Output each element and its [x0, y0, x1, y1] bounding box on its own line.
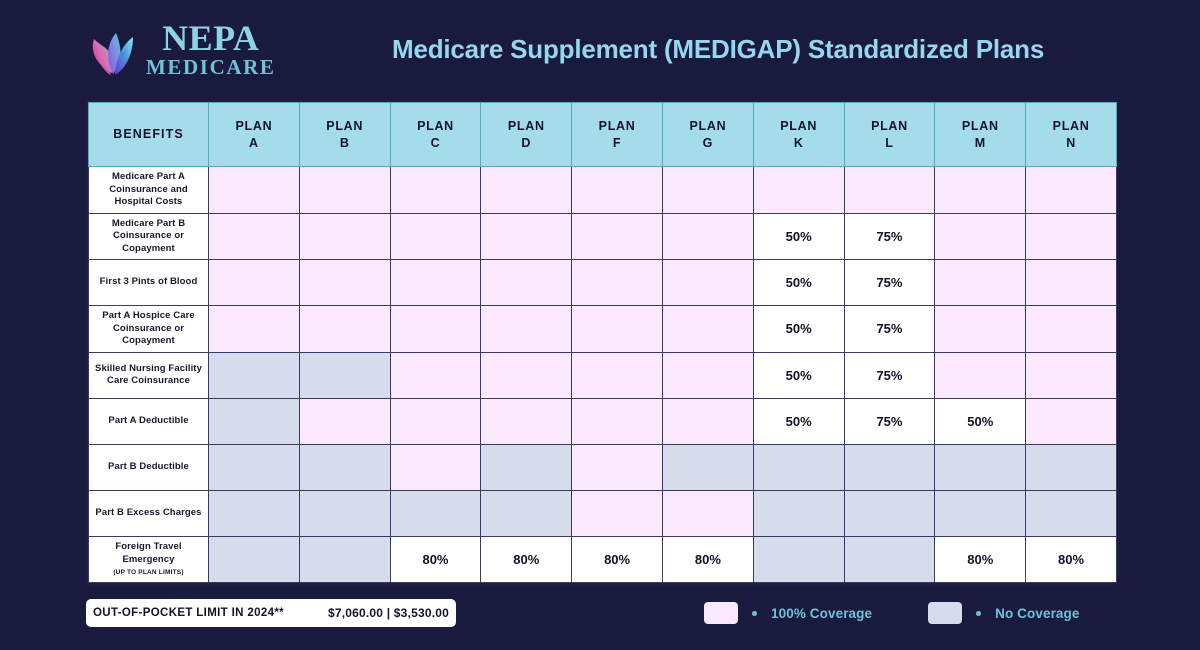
brand-name-top: NEPA	[162, 20, 259, 56]
benefit-name-text: Part A Hospice Care Coinsurance or Copay…	[102, 310, 195, 346]
coverage-cell-plan-k: 50%	[753, 398, 844, 444]
plan-word-label: PLAN	[935, 118, 1025, 135]
coverage-cell-plan-k: 50%	[753, 352, 844, 398]
coverage-cell-plan-n	[1026, 306, 1117, 353]
coverage-cell-plan-c	[390, 398, 481, 444]
benefit-name-cell: Part B Excess Charges	[89, 490, 209, 536]
coverage-cell-plan-k: 50%	[753, 306, 844, 353]
coverage-cell-plan-m	[935, 167, 1026, 214]
legend-swatch-no-coverage	[928, 602, 962, 624]
coverage-cell-plan-d	[481, 167, 572, 214]
coverage-cell-plan-d	[481, 490, 572, 536]
coverage-cell-plan-f: 80%	[572, 536, 663, 582]
benefit-name-text: Medicare Part B Coinsurance or Copayment	[112, 218, 185, 254]
coverage-cell-plan-g	[662, 444, 753, 490]
coverage-cell-plan-m: 80%	[935, 536, 1026, 582]
coverage-cell-plan-n	[1026, 352, 1117, 398]
legend-bullet-dot-icon	[976, 611, 981, 616]
coverage-cell-plan-b	[299, 260, 390, 306]
coverage-cell-plan-l: 75%	[844, 398, 935, 444]
brand-wordmark: NEPA MEDICARE	[146, 20, 275, 78]
coverage-cell-plan-c	[390, 352, 481, 398]
plan-letter-label: C	[391, 135, 481, 152]
coverage-cell-plan-c	[390, 306, 481, 353]
plan-word-label: PLAN	[754, 118, 844, 135]
coverage-cell-plan-a	[209, 444, 300, 490]
benefit-name-cell: Part B Deductible	[89, 444, 209, 490]
coverage-cell-plan-b	[299, 398, 390, 444]
coverage-cell-plan-n	[1026, 260, 1117, 306]
legend-item-full-coverage: 100% Coverage	[704, 602, 872, 624]
coverage-cell-plan-k	[753, 167, 844, 214]
benefit-name-text: Part B Excess Charges	[95, 507, 201, 518]
table-row: Part B Excess Charges	[89, 490, 1117, 536]
coverage-cell-plan-c	[390, 213, 481, 260]
coverage-cell-plan-k	[753, 444, 844, 490]
legend-swatch-full-coverage	[704, 602, 738, 624]
benefit-name-cell: Medicare Part B Coinsurance or Copayment	[89, 213, 209, 260]
coverage-cell-plan-c	[390, 490, 481, 536]
coverage-cell-plan-a	[209, 167, 300, 214]
table-row: Medicare Part A Coinsurance and Hospital…	[89, 167, 1117, 214]
plan-word-label: PLAN	[481, 118, 571, 135]
legend-item-no-coverage: No Coverage	[928, 602, 1079, 624]
column-header-plan-c: PLANC	[390, 103, 481, 167]
table-row: Skilled Nursing Facility Care Coinsuranc…	[89, 352, 1117, 398]
coverage-cell-plan-c	[390, 260, 481, 306]
leaf-flame-logo-icon	[86, 21, 138, 77]
table-row: Part A Deductible50%75%50%	[89, 398, 1117, 444]
coverage-cell-plan-g	[662, 260, 753, 306]
coverage-cell-plan-n	[1026, 213, 1117, 260]
coverage-cell-plan-d	[481, 398, 572, 444]
benefit-name-text: Foreign Travel Emergency	[115, 541, 181, 565]
coverage-cell-plan-c	[390, 167, 481, 214]
benefit-name-cell: First 3 Pints of Blood	[89, 260, 209, 306]
coverage-cell-plan-b	[299, 536, 390, 582]
coverage-cell-plan-f	[572, 352, 663, 398]
coverage-cell-plan-f	[572, 398, 663, 444]
coverage-cell-plan-f	[572, 260, 663, 306]
table-header-row: BENEFITS PLANAPLANBPLANCPLANDPLANFPLANGP…	[89, 103, 1117, 167]
coverage-cell-plan-l	[844, 167, 935, 214]
coverage-cell-plan-m	[935, 444, 1026, 490]
column-header-plan-k: PLANK	[753, 103, 844, 167]
benefit-name-cell: Part A Hospice Care Coinsurance or Copay…	[89, 306, 209, 353]
coverage-cell-plan-k	[753, 536, 844, 582]
coverage-cell-plan-l	[844, 490, 935, 536]
plan-letter-label: K	[754, 135, 844, 152]
legend-label-no-coverage: No Coverage	[995, 606, 1079, 621]
coverage-cell-plan-m	[935, 306, 1026, 353]
coverage-cell-plan-l: 75%	[844, 352, 935, 398]
coverage-cell-plan-g	[662, 306, 753, 353]
coverage-cell-plan-f	[572, 306, 663, 353]
benefit-name-text: Part B Deductible	[108, 461, 189, 472]
benefit-name-cell: Skilled Nursing Facility Care Coinsuranc…	[89, 352, 209, 398]
benefit-name-text: First 3 Pints of Blood	[100, 276, 198, 287]
benefit-name-cell: Part A Deductible	[89, 398, 209, 444]
benefit-name-cell: Foreign Travel Emergency(UP TO PLAN LIMI…	[89, 536, 209, 582]
coverage-cell-plan-c: 80%	[390, 536, 481, 582]
table-row: Medicare Part B Coinsurance or Copayment…	[89, 213, 1117, 260]
coverage-cell-plan-f	[572, 167, 663, 214]
legend-bullet-dot-icon	[752, 611, 757, 616]
out-of-pocket-label: OUT-OF-POCKET LIMIT IN 2024**	[93, 607, 284, 619]
page-header: NEPA MEDICARE Medicare Supplement (MEDIG…	[0, 0, 1200, 98]
coverage-cell-plan-a	[209, 213, 300, 260]
coverage-cell-plan-a	[209, 352, 300, 398]
coverage-cell-plan-n: 80%	[1026, 536, 1117, 582]
coverage-cell-plan-d	[481, 306, 572, 353]
benefit-name-text: Skilled Nursing Facility Care Coinsuranc…	[95, 363, 202, 387]
plan-letter-label: F	[572, 135, 662, 152]
page-title: Medicare Supplement (MEDIGAP) Standardiz…	[392, 34, 1044, 65]
coverage-cell-plan-n	[1026, 167, 1117, 214]
coverage-cell-plan-l: 75%	[844, 260, 935, 306]
plan-word-label: PLAN	[572, 118, 662, 135]
coverage-cell-plan-f	[572, 213, 663, 260]
table-row: First 3 Pints of Blood50%75%	[89, 260, 1117, 306]
coverage-cell-plan-a	[209, 306, 300, 353]
plan-word-label: PLAN	[663, 118, 753, 135]
coverage-cell-plan-k	[753, 490, 844, 536]
coverage-cell-plan-g	[662, 490, 753, 536]
table-row: Part A Hospice Care Coinsurance or Copay…	[89, 306, 1117, 353]
benefit-name-subtext: (UP TO PLAN LIMITS)	[95, 569, 202, 578]
coverage-cell-plan-g	[662, 167, 753, 214]
plans-table-container: BENEFITS PLANAPLANBPLANCPLANDPLANFPLANGP…	[86, 100, 1114, 585]
coverage-cell-plan-g	[662, 398, 753, 444]
benefit-name-text: Part A Deductible	[108, 415, 188, 426]
plan-letter-label: A	[209, 135, 299, 152]
out-of-pocket-limit-pill: OUT-OF-POCKET LIMIT IN 2024** $7,060.00 …	[86, 599, 456, 627]
column-header-plan-g: PLANG	[662, 103, 753, 167]
coverage-cell-plan-n	[1026, 398, 1117, 444]
benefit-name-text: Medicare Part A Coinsurance and Hospital…	[109, 171, 188, 207]
page-footer: OUT-OF-POCKET LIMIT IN 2024** $7,060.00 …	[86, 596, 1114, 630]
coverage-cell-plan-d: 80%	[481, 536, 572, 582]
coverage-cell-plan-b	[299, 213, 390, 260]
coverage-cell-plan-g	[662, 352, 753, 398]
plan-word-label: PLAN	[845, 118, 935, 135]
coverage-cell-plan-a	[209, 490, 300, 536]
benefit-name-cell: Medicare Part A Coinsurance and Hospital…	[89, 167, 209, 214]
plan-letter-label: B	[300, 135, 390, 152]
column-header-plan-n: PLANN	[1026, 103, 1117, 167]
coverage-cell-plan-b	[299, 352, 390, 398]
coverage-cell-plan-d	[481, 444, 572, 490]
coverage-cell-plan-a	[209, 536, 300, 582]
coverage-cell-plan-n	[1026, 444, 1117, 490]
coverage-cell-plan-k: 50%	[753, 213, 844, 260]
coverage-cell-plan-m	[935, 213, 1026, 260]
coverage-cell-plan-b	[299, 490, 390, 536]
coverage-cell-plan-d	[481, 260, 572, 306]
coverage-cell-plan-l	[844, 444, 935, 490]
plan-letter-label: N	[1026, 135, 1116, 152]
table-row: Foreign Travel Emergency(UP TO PLAN LIMI…	[89, 536, 1117, 582]
legend-label-full-coverage: 100% Coverage	[771, 606, 872, 621]
column-header-plan-m: PLANM	[935, 103, 1026, 167]
coverage-cell-plan-l	[844, 536, 935, 582]
coverage-cell-plan-c	[390, 444, 481, 490]
coverage-cell-plan-d	[481, 352, 572, 398]
coverage-cell-plan-a	[209, 398, 300, 444]
coverage-cell-plan-m: 50%	[935, 398, 1026, 444]
coverage-cell-plan-g: 80%	[662, 536, 753, 582]
coverage-cell-plan-a	[209, 260, 300, 306]
coverage-cell-plan-f	[572, 444, 663, 490]
out-of-pocket-value: $7,060.00 | $3,530.00	[328, 606, 449, 620]
plan-word-label: PLAN	[300, 118, 390, 135]
plan-letter-label: D	[481, 135, 571, 152]
coverage-cell-plan-m	[935, 260, 1026, 306]
coverage-legend: 100% Coverage No Coverage	[704, 602, 1079, 624]
table-body: Medicare Part A Coinsurance and Hospital…	[89, 167, 1117, 583]
coverage-cell-plan-k: 50%	[753, 260, 844, 306]
coverage-cell-plan-b	[299, 444, 390, 490]
coverage-cell-plan-d	[481, 213, 572, 260]
coverage-cell-plan-m	[935, 490, 1026, 536]
coverage-cell-plan-b	[299, 167, 390, 214]
plan-word-label: PLAN	[391, 118, 481, 135]
coverage-cell-plan-b	[299, 306, 390, 353]
coverage-cell-plan-f	[572, 490, 663, 536]
column-header-plan-f: PLANF	[572, 103, 663, 167]
medigap-plans-table: BENEFITS PLANAPLANBPLANCPLANDPLANFPLANGP…	[88, 102, 1117, 583]
plan-letter-label: L	[845, 135, 935, 152]
column-header-benefits: BENEFITS	[89, 103, 209, 167]
coverage-cell-plan-m	[935, 352, 1026, 398]
column-header-plan-l: PLANL	[844, 103, 935, 167]
coverage-cell-plan-n	[1026, 490, 1117, 536]
column-header-plan-a: PLANA	[209, 103, 300, 167]
coverage-cell-plan-l: 75%	[844, 306, 935, 353]
plan-letter-label: M	[935, 135, 1025, 152]
brand-name-bottom: MEDICARE	[146, 57, 275, 78]
brand-logo: NEPA MEDICARE	[86, 20, 310, 78]
plan-word-label: PLAN	[1026, 118, 1116, 135]
coverage-cell-plan-l: 75%	[844, 213, 935, 260]
column-header-plan-b: PLANB	[299, 103, 390, 167]
coverage-cell-plan-g	[662, 213, 753, 260]
plan-letter-label: G	[663, 135, 753, 152]
plan-word-label: PLAN	[209, 118, 299, 135]
column-header-plan-d: PLAND	[481, 103, 572, 167]
table-row: Part B Deductible	[89, 444, 1117, 490]
